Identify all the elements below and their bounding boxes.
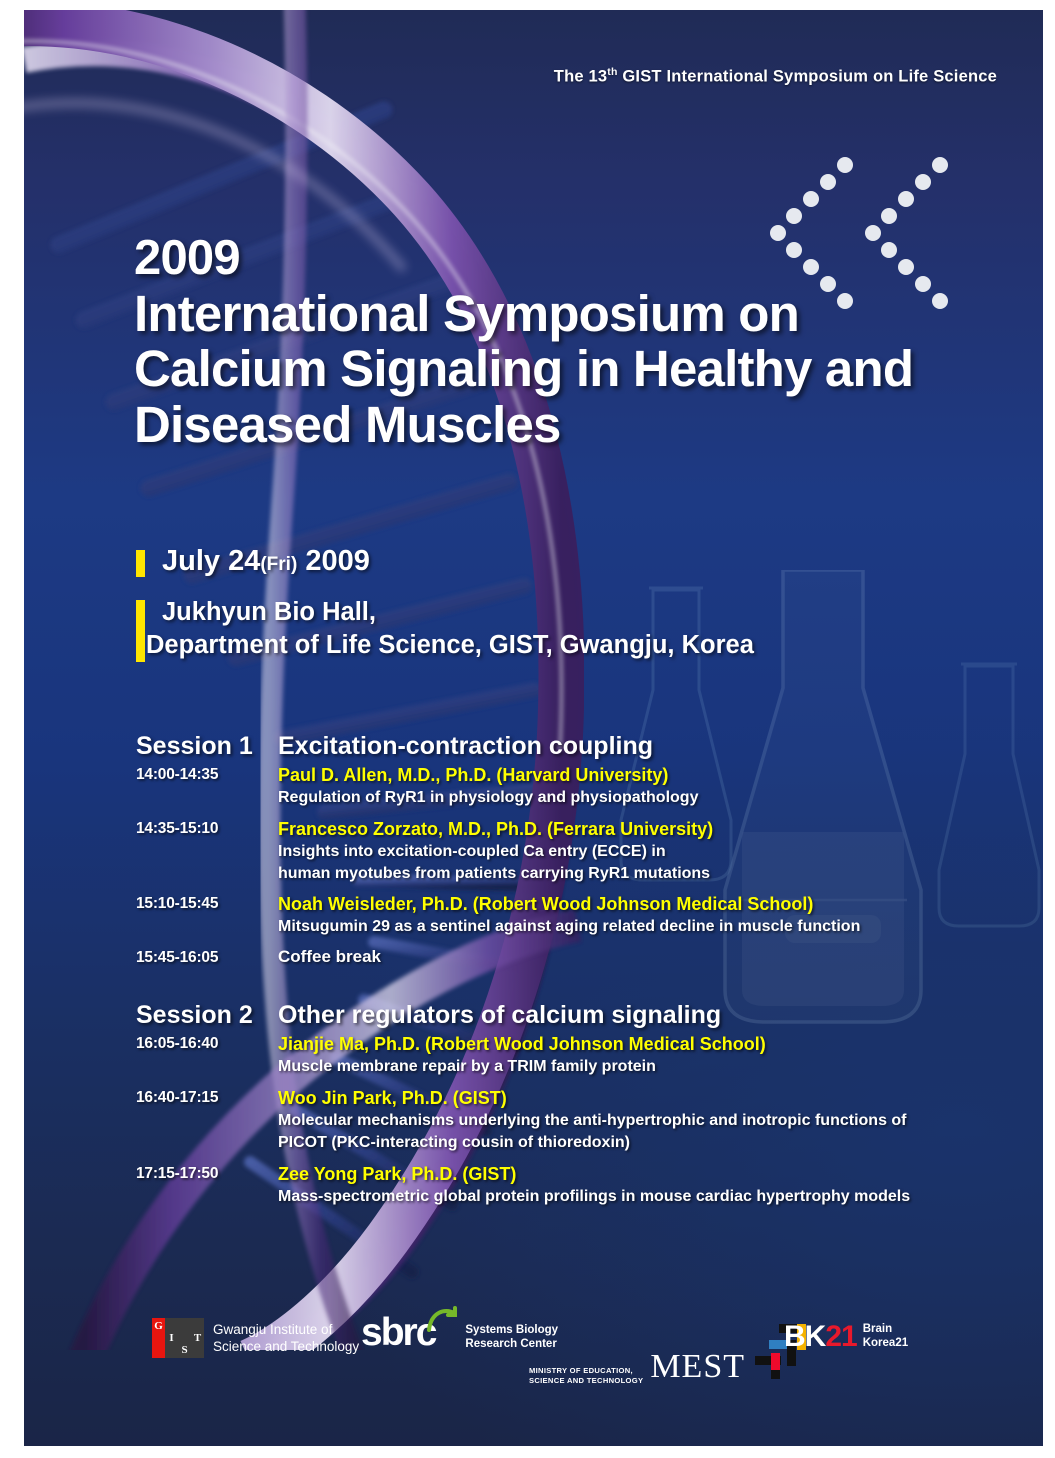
mest-line-2: SCIENCE AND TECHNOLOGY (529, 1376, 643, 1386)
symposium-poster: The 13th GIST International Symposium on… (24, 10, 1043, 1446)
sbrc-mark: sbrc (361, 1316, 435, 1349)
talk-speaker: Jianjie Ma, Ph.D. (Robert Wood Johnson M… (278, 1034, 766, 1054)
talk-row: 16:05-16:40 Jianjie Ma, Ph.D. (Robert Wo… (136, 1033, 1036, 1078)
bk21-fullname: Brain Korea21 (863, 1323, 908, 1351)
talk-time: 15:10-15:45 (136, 893, 278, 938)
event-venue-row: Jukhyun Bio Hall, Department of Life Sci… (136, 596, 956, 661)
talk-time: 15:45-16:05 (136, 947, 278, 967)
logo-mest: MINISTRY OF EDUCATION, SCIENCE AND TECHN… (529, 1320, 811, 1386)
event-date: July 24(Fri) 2009 (162, 546, 956, 578)
date-weekday: (Fri) (260, 554, 297, 575)
sbrc-swirl-icon (425, 1304, 459, 1338)
talk-topic-cont: human myotubes from patients carrying Ry… (278, 864, 1036, 885)
kicker-post: GIST International Symposium on Life Sci… (618, 68, 997, 86)
talk-speaker: Francesco Zorzato, M.D., Ph.D. (Ferrara … (278, 819, 713, 839)
poster-frame: The 13th GIST International Symposium on… (0, 0, 1055, 1458)
session-block-2: Session 2 Other regulators of calcium si… (136, 1001, 1036, 1207)
bk21-line-1: Brain (863, 1323, 908, 1337)
talk-body: Coffee break (278, 947, 1036, 967)
break-label: Coffee break (278, 945, 381, 966)
talk-topic: Mitsugumin 29 as a sentinel against agin… (278, 917, 1036, 938)
session-2-label: Session 2 (136, 1001, 278, 1030)
talk-topic: Insights into excitation-coupled Ca entr… (278, 842, 1036, 863)
date-main: July 24 (162, 545, 260, 577)
gist-wordmark: Gwangju Institute of Science and Technol… (213, 1321, 359, 1356)
talk-speaker: Woo Jin Park, Ph.D. (GIST) (278, 1088, 507, 1108)
kicker-pre: The 13 (554, 68, 607, 86)
talk-body: Zee Yong Park, Ph.D. (GIST) Mass-spectro… (278, 1163, 1036, 1208)
session-2-title: Other regulators of calcium signaling (278, 1001, 721, 1030)
talk-topic: Mass-spectrometric global protein profil… (278, 1187, 1036, 1208)
talk-body: Noah Weisleder, Ph.D. (Robert Wood Johns… (278, 893, 1036, 938)
title-line-year: 2009 (134, 232, 1034, 286)
title-line-3: Calcium Signaling in Healthy and (134, 341, 1034, 397)
kicker-ordinal: th (607, 66, 617, 78)
talk-row-break: 15:45-16:05 Coffee break (136, 947, 1036, 967)
talk-topic: Molecular mechanisms underlying the anti… (278, 1111, 1036, 1132)
talk-row: 16:40-17:15 Woo Jin Park, Ph.D. (GIST) M… (136, 1087, 1036, 1154)
event-series-kicker: The 13th GIST International Symposium on… (24, 66, 997, 87)
talk-body: Woo Jin Park, Ph.D. (GIST) Molecular mec… (278, 1087, 1036, 1154)
event-date-row: July 24(Fri) 2009 (136, 546, 956, 578)
gist-mark-i: I (165, 1318, 178, 1358)
talk-speaker: Paul D. Allen, M.D., Ph.D. (Harvard Univ… (278, 765, 668, 785)
bk21-wordmark: BK21 (784, 1322, 857, 1352)
talk-time: 16:40-17:15 (136, 1087, 278, 1154)
bk21-number: 21 (825, 1320, 856, 1353)
event-venue: Jukhyun Bio Hall, Department of Life Sci… (162, 596, 956, 661)
yellow-bar-icon-2 (136, 600, 145, 662)
talk-row: 14:35-15:10 Francesco Zorzato, M.D., Ph.… (136, 818, 1036, 885)
talk-row: 15:10-15:45 Noah Weisleder, Ph.D. (Rober… (136, 893, 1036, 938)
logo-bk21: BK21 Brain Korea21 (784, 1322, 908, 1352)
title-line-2: International Symposium on (134, 286, 1034, 342)
date-year: 2009 (297, 545, 370, 577)
talk-time: 14:35-15:10 (136, 818, 278, 885)
talk-body: Jianjie Ma, Ph.D. (Robert Wood Johnson M… (278, 1033, 1036, 1078)
talk-topic: Muscle membrane repair by a TRIM family … (278, 1057, 1036, 1078)
session-block-1: Session 1 Excitation-contraction couplin… (136, 732, 1036, 967)
title-line-4: Diseased Muscles (134, 397, 1034, 453)
talk-body: Paul D. Allen, M.D., Ph.D. (Harvard Univ… (278, 764, 1036, 809)
talk-body: Francesco Zorzato, M.D., Ph.D. (Ferrara … (278, 818, 1036, 885)
talk-speaker: Zee Yong Park, Ph.D. (GIST) (278, 1164, 516, 1184)
mest-line-1: MINISTRY OF EDUCATION, (529, 1366, 643, 1376)
bk21-bk: BK (784, 1320, 825, 1353)
talk-time: 16:05-16:40 (136, 1033, 278, 1078)
mest-wordmark: MEST (650, 1348, 745, 1386)
talk-topic: Regulation of RyR1 in physiology and phy… (278, 788, 1036, 809)
mest-ministry-text: MINISTRY OF EDUCATION, SCIENCE AND TECHN… (529, 1366, 643, 1387)
gist-mark-g: G (152, 1318, 165, 1358)
event-meta: July 24(Fri) 2009 Jukhyun Bio Hall, Depa… (136, 546, 956, 661)
gist-line-2: Science and Technology (213, 1338, 359, 1355)
gist-line-1: Gwangju Institute of (213, 1321, 359, 1338)
talk-topic-cont: PICOT (PKC-interacting cousin of thiored… (278, 1133, 1036, 1154)
logo-gist: G I S T Gwangju Institute of Science and… (152, 1318, 359, 1358)
talk-row: 14:00-14:35 Paul D. Allen, M.D., Ph.D. (… (136, 764, 1036, 809)
talk-time: 14:00-14:35 (136, 764, 278, 809)
session-1-title: Excitation-contraction coupling (278, 732, 653, 761)
venue-line-2: Department of Life Science, GIST, Gwangj… (146, 629, 956, 662)
sbrc-wordmark: sbrc (361, 1316, 435, 1349)
talk-time: 17:15-17:50 (136, 1163, 278, 1208)
talk-speaker: Noah Weisleder, Ph.D. (Robert Wood Johns… (278, 894, 813, 914)
program-schedule: Session 1 Excitation-contraction couplin… (136, 732, 1036, 1208)
session-1-label: Session 1 (136, 732, 278, 761)
yellow-bar-icon (136, 550, 145, 577)
bk21-line-2: Korea21 (863, 1337, 908, 1351)
session-2-header: Session 2 Other regulators of calcium si… (136, 1001, 1036, 1030)
gist-mark-t: T (191, 1318, 204, 1358)
sponsor-logo-bar: G I S T Gwangju Institute of Science and… (24, 1290, 1043, 1386)
talk-row: 17:15-17:50 Zee Yong Park, Ph.D. (GIST) … (136, 1163, 1036, 1208)
session-1-header: Session 1 Excitation-contraction couplin… (136, 732, 1036, 761)
gist-mark-s: S (178, 1318, 191, 1358)
venue-line-1: Jukhyun Bio Hall, (162, 596, 956, 629)
gist-mark-icon: G I S T (152, 1318, 204, 1358)
poster-title: 2009 International Symposium on Calcium … (134, 232, 1034, 453)
